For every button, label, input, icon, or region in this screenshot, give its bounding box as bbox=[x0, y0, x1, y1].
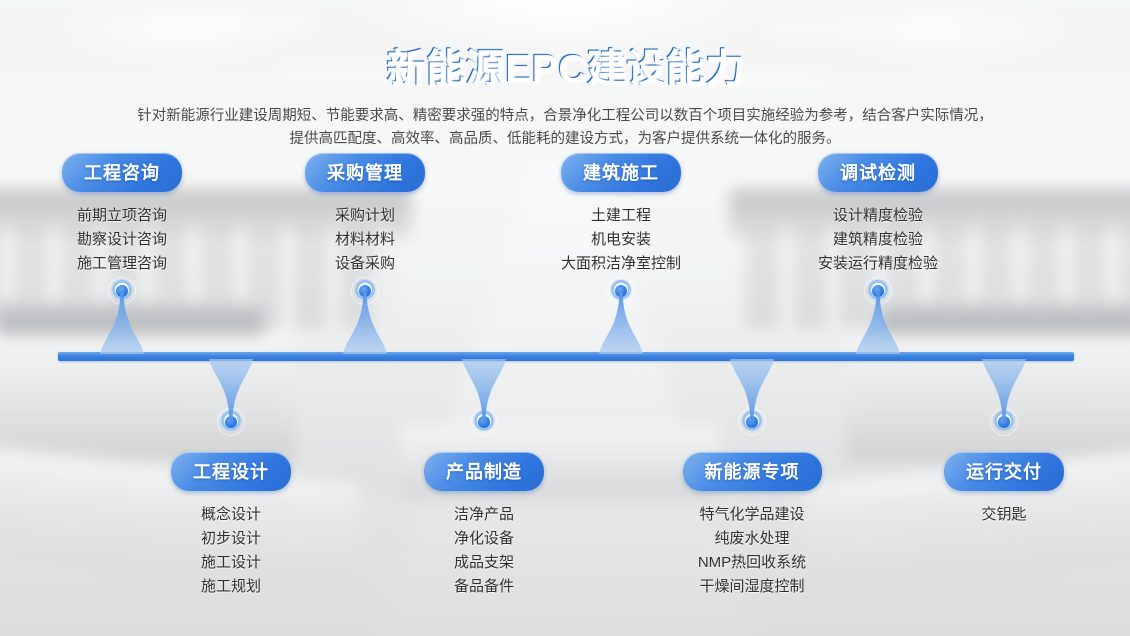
stage-item: 勘察设计咨询 bbox=[0, 228, 252, 252]
stage-pill-建筑施工[interactable]: 建筑施工 bbox=[561, 153, 681, 192]
timeline-connector-funnel bbox=[856, 291, 900, 354]
stage-item: 建筑精度检验 bbox=[748, 228, 1008, 252]
stage-group-bottom-3: 新能源专项特气化学品建设纯废水处理NMP热回收系统干燥间湿度控制 bbox=[622, 452, 882, 599]
stage-group-top-3: 建筑施工土建工程机电安装大面积洁净室控制 bbox=[491, 153, 751, 276]
stage-item: 成品支架 bbox=[354, 551, 614, 575]
stage-pill-调试检测[interactable]: 调试检测 bbox=[818, 153, 938, 192]
stage-item: 初步设计 bbox=[101, 527, 361, 551]
stage-pill-产品制造[interactable]: 产品制造 bbox=[424, 452, 544, 491]
stage-item: 备品备件 bbox=[354, 575, 614, 599]
stage-item: 施工管理咨询 bbox=[0, 252, 252, 276]
stage-item-list: 洁净产品净化设备成品支架备品备件 bbox=[354, 503, 614, 599]
stage-item-list: 前期立项咨询勘察设计咨询施工管理咨询 bbox=[0, 204, 252, 276]
page-subtitle: 针对新能源行业建设周期短、节能要求高、精密要求强的特点，合景净化工程公司以数百个… bbox=[75, 105, 1055, 151]
timeline-connector-funnel bbox=[982, 359, 1026, 422]
timeline-connector-funnel bbox=[100, 291, 144, 354]
stage-item: 概念设计 bbox=[101, 503, 361, 527]
stage-item: 施工设计 bbox=[101, 551, 361, 575]
stage-item: 土建工程 bbox=[491, 204, 751, 228]
stage-item-list: 土建工程机电安装大面积洁净室控制 bbox=[491, 204, 751, 276]
stage-item: NMP热回收系统 bbox=[622, 551, 882, 575]
stage-item-list: 概念设计初步设计施工设计施工规划 bbox=[101, 503, 361, 599]
page-title: 新能源EPC建设能力 bbox=[0, 0, 1130, 93]
stage-item: 施工规划 bbox=[101, 575, 361, 599]
stage-pill-运行交付[interactable]: 运行交付 bbox=[944, 452, 1064, 491]
stage-pill-采购管理[interactable]: 采购管理 bbox=[305, 153, 425, 192]
timeline-connector-funnel bbox=[462, 359, 506, 422]
stage-item-list: 交钥匙 bbox=[874, 503, 1130, 527]
stage-item: 设备采购 bbox=[235, 252, 495, 276]
stage-item: 采购计划 bbox=[235, 204, 495, 228]
timeline-connector-funnel bbox=[209, 359, 253, 422]
stage-group-top-4: 调试检测设计精度检验建筑精度检验安装运行精度检验 bbox=[748, 153, 1008, 276]
stage-item: 机电安装 bbox=[491, 228, 751, 252]
timeline-connector-funnel bbox=[599, 291, 643, 354]
stage-group-bottom-1: 工程设计概念设计初步设计施工设计施工规划 bbox=[101, 452, 361, 599]
timeline-connector-funnel bbox=[730, 359, 774, 422]
stage-item-list: 采购计划材料材料设备采购 bbox=[235, 204, 495, 276]
stage-item: 安装运行精度检验 bbox=[748, 252, 1008, 276]
stage-item-list: 特气化学品建设纯废水处理NMP热回收系统干燥间湿度控制 bbox=[622, 503, 882, 599]
stage-group-bottom-4: 运行交付交钥匙 bbox=[874, 452, 1130, 527]
stage-item: 洁净产品 bbox=[354, 503, 614, 527]
infographic-stage: 新能源EPC建设能力 针对新能源行业建设周期短、节能要求高、精密要求强的特点，合… bbox=[0, 0, 1130, 636]
stage-group-top-2: 采购管理采购计划材料材料设备采购 bbox=[235, 153, 495, 276]
stage-item: 特气化学品建设 bbox=[622, 503, 882, 527]
stage-item: 净化设备 bbox=[354, 527, 614, 551]
stage-item: 干燥间湿度控制 bbox=[622, 575, 882, 599]
stage-group-top-1: 工程咨询前期立项咨询勘察设计咨询施工管理咨询 bbox=[0, 153, 252, 276]
stage-item: 纯废水处理 bbox=[622, 527, 882, 551]
header: 新能源EPC建设能力 针对新能源行业建设周期短、节能要求高、精密要求强的特点，合… bbox=[0, 0, 1130, 151]
stage-pill-工程设计[interactable]: 工程设计 bbox=[171, 452, 291, 491]
stage-group-bottom-2: 产品制造洁净产品净化设备成品支架备品备件 bbox=[354, 452, 614, 599]
stage-item: 材料材料 bbox=[235, 228, 495, 252]
stage-item: 交钥匙 bbox=[874, 503, 1130, 527]
stage-item-list: 设计精度检验建筑精度检验安装运行精度检验 bbox=[748, 204, 1008, 276]
stage-item: 前期立项咨询 bbox=[0, 204, 252, 228]
stage-pill-新能源专项[interactable]: 新能源专项 bbox=[683, 452, 822, 491]
subtitle-line-2: 提供高匹配度、高效率、高品质、低能耗的建设方式，为客户提供系统一体化的服务。 bbox=[290, 131, 841, 147]
stage-item: 大面积洁净室控制 bbox=[491, 252, 751, 276]
timeline-connector-funnel bbox=[343, 291, 387, 354]
subtitle-line-1: 针对新能源行业建设周期短、节能要求高、精密要求强的特点，合景净化工程公司以数百个… bbox=[137, 108, 993, 124]
stage-item: 设计精度检验 bbox=[748, 204, 1008, 228]
stage-pill-工程咨询[interactable]: 工程咨询 bbox=[62, 153, 182, 192]
